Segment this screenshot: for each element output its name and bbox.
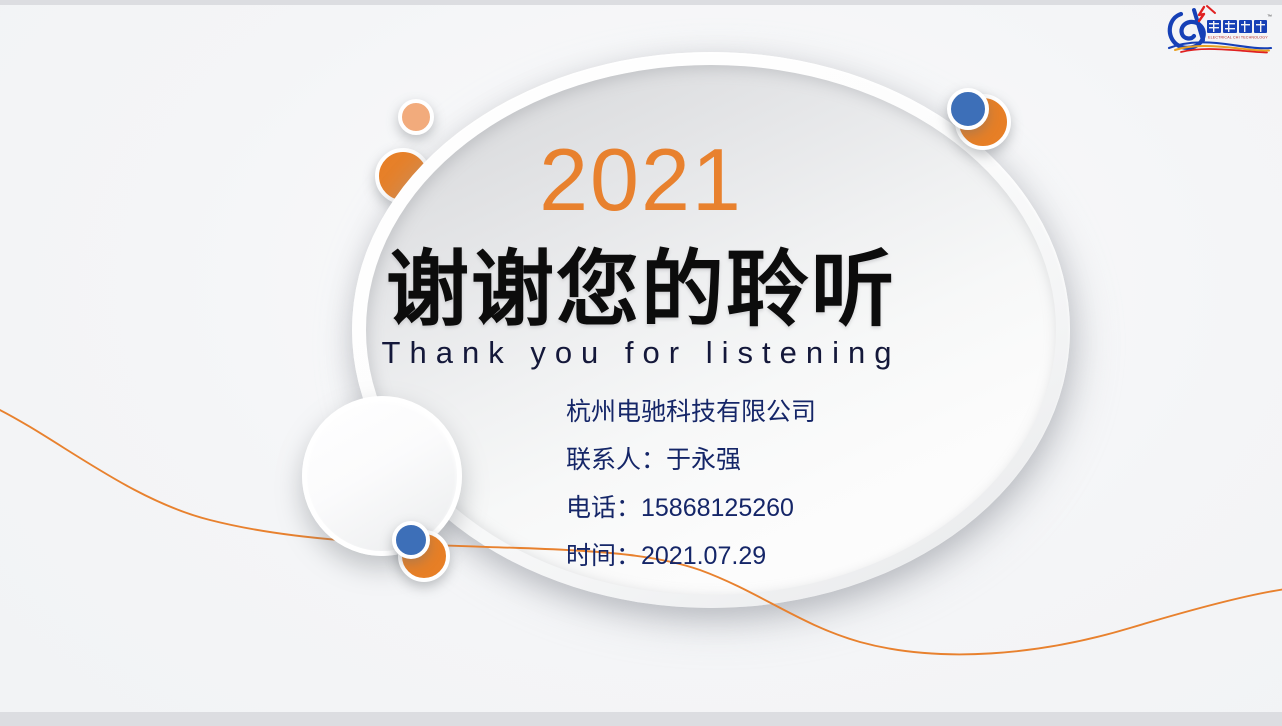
slide-content: 2021 谢谢您的聆听 Thank you for listening 杭州电驰… xyxy=(0,0,1282,726)
svg-text:™: ™ xyxy=(1267,14,1272,20)
headline-title: 谢谢您的聆听 xyxy=(0,248,1282,331)
contact-phone: 电话：15868125260 xyxy=(566,484,1036,532)
year-label: 2021 xyxy=(0,136,1282,224)
contact-company: 杭州电驰科技有限公司 xyxy=(566,388,1036,436)
contact-block: 杭州电驰科技有限公司 联系人：于永强 电话：15868125260 时间：202… xyxy=(566,388,1036,580)
contact-date: 时间：2021.07.29 xyxy=(566,532,1036,580)
subtitle-english: Thank you for listening xyxy=(0,334,1282,372)
viewer-bottom-band xyxy=(0,712,1282,726)
viewer-top-band xyxy=(0,0,1282,5)
logo-english-text: ELECTRICAL CHI TECHNOLOGY xyxy=(1208,36,1268,40)
contact-person: 联系人：于永强 xyxy=(566,436,1036,484)
company-logo-icon: ™ ELECTRICAL CHI TECHNOLOGY xyxy=(1163,4,1275,54)
presentation-slide: 2021 谢谢您的聆听 Thank you for listening 杭州电驰… xyxy=(0,0,1282,726)
